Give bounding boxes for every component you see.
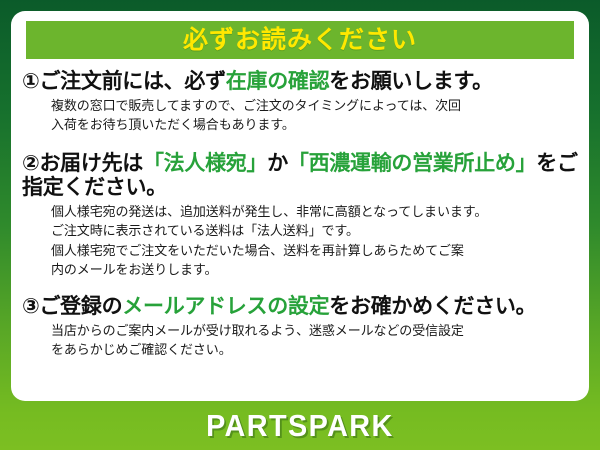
item-2-subtext-line-3: 個人様宅宛でご注文をいただいた場合、送料を再計算しあらためてご案 bbox=[51, 241, 579, 260]
item-1-subtext-line-1: 複数の窓口で販売してますので、ご注文のタイミングによっては、次回 bbox=[51, 96, 579, 115]
item-2-heading-highlight-2: 「西濃運輸の営業所止め」 bbox=[288, 152, 536, 175]
notice-item-list: ①ご注文前には、必ず在庫の確認をお願いします。 複数の窓口で販売してますので、ご… bbox=[11, 68, 589, 359]
item-2-subtext: 個人様宅宛の発送は、追加送料が発生し、非常に高額となってしまいます。 ご注文時に… bbox=[51, 202, 579, 278]
item-3-subtext: 当店からのご案内メールが受け取れるよう、迷惑メールなどの受信設定 をあらかじめご… bbox=[51, 321, 579, 359]
item-2-heading-before: お届け先は bbox=[39, 152, 143, 175]
item-1-heading-after: をお願いします。 bbox=[329, 70, 493, 93]
item-1-heading-highlight: 在庫の確認 bbox=[226, 70, 330, 93]
item-2-subtext-line-1: 個人様宅宛の発送は、追加送料が発生し、非常に高額となってしまいます。 bbox=[51, 202, 579, 221]
item-3-heading-after: をお確かめください。 bbox=[329, 295, 536, 318]
item-1-subtext: 複数の窓口で販売してますので、ご注文のタイミングによっては、次回 入荷をお待ち頂… bbox=[51, 96, 579, 134]
item-1-heading-before: ご注文前には、必ず bbox=[39, 70, 225, 93]
item-3-subtext-line-1: 当店からのご案内メールが受け取れるよう、迷惑メールなどの受信設定 bbox=[51, 321, 579, 340]
footer-brand-bar: PARTSPARK bbox=[0, 401, 600, 450]
item-3-marker: ③ bbox=[22, 295, 39, 318]
item-3-heading-before: ご登録の bbox=[39, 295, 122, 318]
item-2-subtext-line-4: 内のメールをお送りします。 bbox=[51, 260, 579, 279]
item-3-heading: ③ご登録のメールアドレスの設定をお確かめください。 bbox=[22, 295, 579, 319]
notice-frame: 必ずお読みください ①ご注文前には、必ず在庫の確認をお願いします。 複数の窓口で… bbox=[0, 0, 600, 450]
item-1-subtext-line-2: 入荷をお待ち頂いただく場合もあります。 bbox=[51, 115, 579, 134]
item-2-heading-middle: か bbox=[267, 152, 288, 175]
brand-logo-text: PARTSPARK bbox=[206, 408, 394, 444]
item-3-subtext-line-2: をあらかじめご確認ください。 bbox=[51, 340, 579, 359]
notice-item-3: ③ご登録のメールアドレスの設定をお確かめください。 当店からのご案内メールが受け… bbox=[11, 295, 589, 360]
item-3-heading-highlight: メールアドレスの設定 bbox=[122, 295, 329, 318]
notice-item-2: ②お届け先は「法人様宛」か「西濃運輸の営業所止め」をご指定ください。 個人様宅宛… bbox=[11, 152, 589, 279]
item-2-marker: ② bbox=[22, 152, 39, 175]
item-2-heading: ②お届け先は「法人様宛」か「西濃運輸の営業所止め」をご指定ください。 bbox=[22, 152, 579, 201]
item-2-heading-highlight: 「法人様宛」 bbox=[143, 152, 267, 175]
notice-card: 必ずお読みください ①ご注文前には、必ず在庫の確認をお願いします。 複数の窓口で… bbox=[11, 11, 589, 401]
notice-banner: 必ずお読みください bbox=[26, 21, 574, 59]
banner-title: 必ずお読みください bbox=[183, 28, 417, 53]
item-2-subtext-line-2: ご注文時に表示されている送料は「法人送料」です。 bbox=[51, 221, 579, 240]
item-1-heading: ①ご注文前には、必ず在庫の確認をお願いします。 bbox=[22, 70, 579, 94]
item-1-marker: ① bbox=[22, 70, 39, 93]
notice-item-1: ①ご注文前には、必ず在庫の確認をお願いします。 複数の窓口で販売してますので、ご… bbox=[11, 70, 589, 135]
